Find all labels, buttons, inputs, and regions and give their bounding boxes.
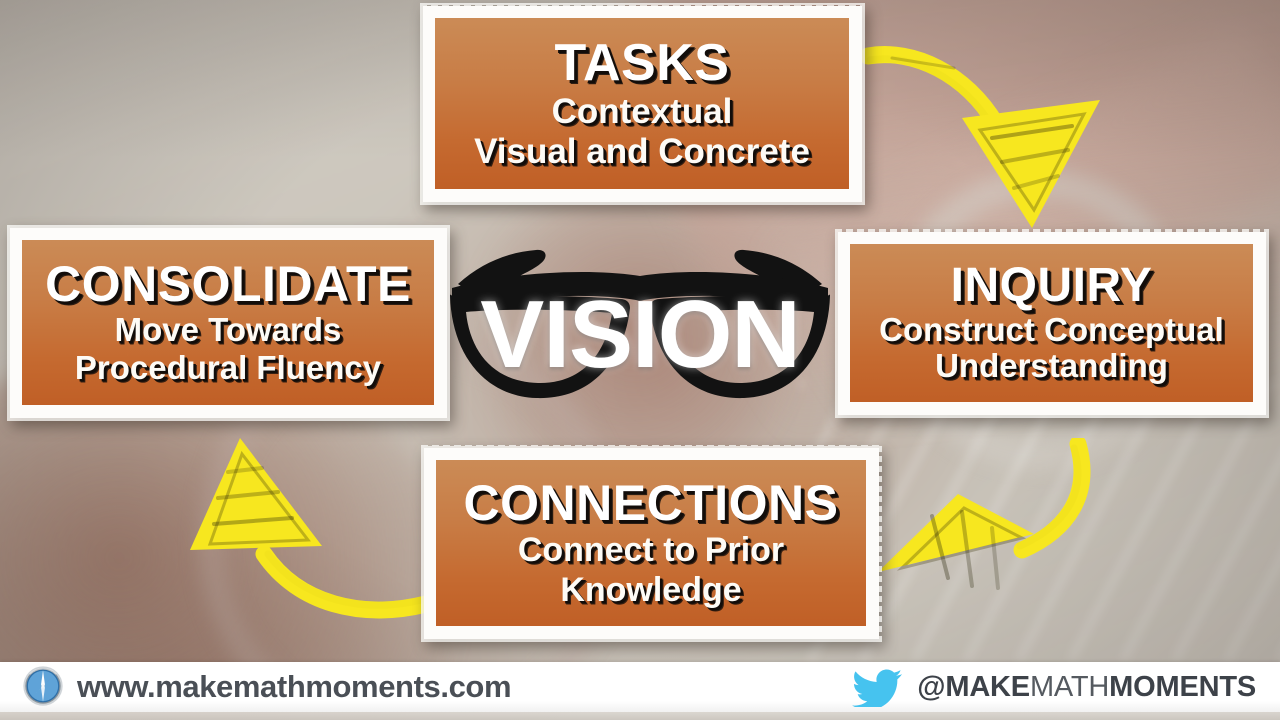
vision-center: VISION: [440, 236, 840, 426]
curved-arrow-down-right-icon: [862, 38, 1102, 238]
handle-part2: MATH: [1030, 671, 1109, 703]
card-subtitle-line2: Visual and Concrete: [474, 133, 810, 170]
twitter-bird-icon: [850, 667, 904, 707]
framework-card-consolidate[interactable]: CONSOLIDATE Move Towards Procedural Flue…: [10, 228, 447, 418]
card-subtitle-line2: Understanding: [935, 349, 1168, 384]
twitter-handle-text: @MAKEMATHMOMENTS: [917, 671, 1256, 704]
card-body: INQUIRY Construct Conceptual Understandi…: [850, 244, 1253, 402]
card-title: CONSOLIDATE: [45, 259, 411, 310]
framework-card-inquiry[interactable]: INQUIRY Construct Conceptual Understandi…: [838, 232, 1266, 415]
card-subtitle-line1: Move Towards: [115, 313, 342, 348]
card-subtitle-line2: Procedural Fluency: [75, 351, 381, 386]
footer-bottom-strip: [0, 712, 1280, 720]
vision-word: VISION: [480, 287, 799, 383]
handle-part1: MAKE: [945, 671, 1030, 703]
curved-arrow-down-left-icon: [862, 438, 1102, 638]
card-title: INQUIRY: [951, 262, 1153, 311]
card-title: CONNECTIONS: [464, 478, 839, 529]
card-title: TASKS: [555, 37, 730, 90]
framework-card-tasks[interactable]: TASKS Contextual Visual and Concrete: [423, 6, 862, 202]
handle-part3: MOMENTS: [1109, 671, 1256, 703]
card-subtitle-line1: Contextual: [552, 93, 733, 130]
footer-website[interactable]: www.makemathmoments.com: [22, 668, 511, 707]
card-body: CONNECTIONS Connect to Prior Knowledge: [436, 460, 866, 626]
footer-social[interactable]: @MAKEMATHMOMENTS: [850, 667, 1256, 707]
handle-at: @: [917, 671, 945, 703]
curved-arrow-up-left-icon: [182, 428, 432, 630]
card-body: TASKS Contextual Visual and Concrete: [435, 18, 849, 189]
card-subtitle-line1: Connect to Prior: [518, 532, 784, 568]
card-subtitle-line2: Knowledge: [560, 572, 741, 608]
framework-card-connections[interactable]: CONNECTIONS Connect to Prior Knowledge: [424, 448, 879, 639]
card-body: CONSOLIDATE Move Towards Procedural Flue…: [22, 240, 434, 405]
slide-canvas: TASKS Contextual Visual and Concrete INQ…: [0, 0, 1280, 720]
footer-bar: www.makemathmoments.com @MAKEMATHMOMENTS: [0, 662, 1280, 712]
card-subtitle-line1: Construct Conceptual: [879, 313, 1224, 348]
compass-icon: [22, 665, 64, 707]
site-url-text: www.makemathmoments.com: [77, 669, 511, 705]
